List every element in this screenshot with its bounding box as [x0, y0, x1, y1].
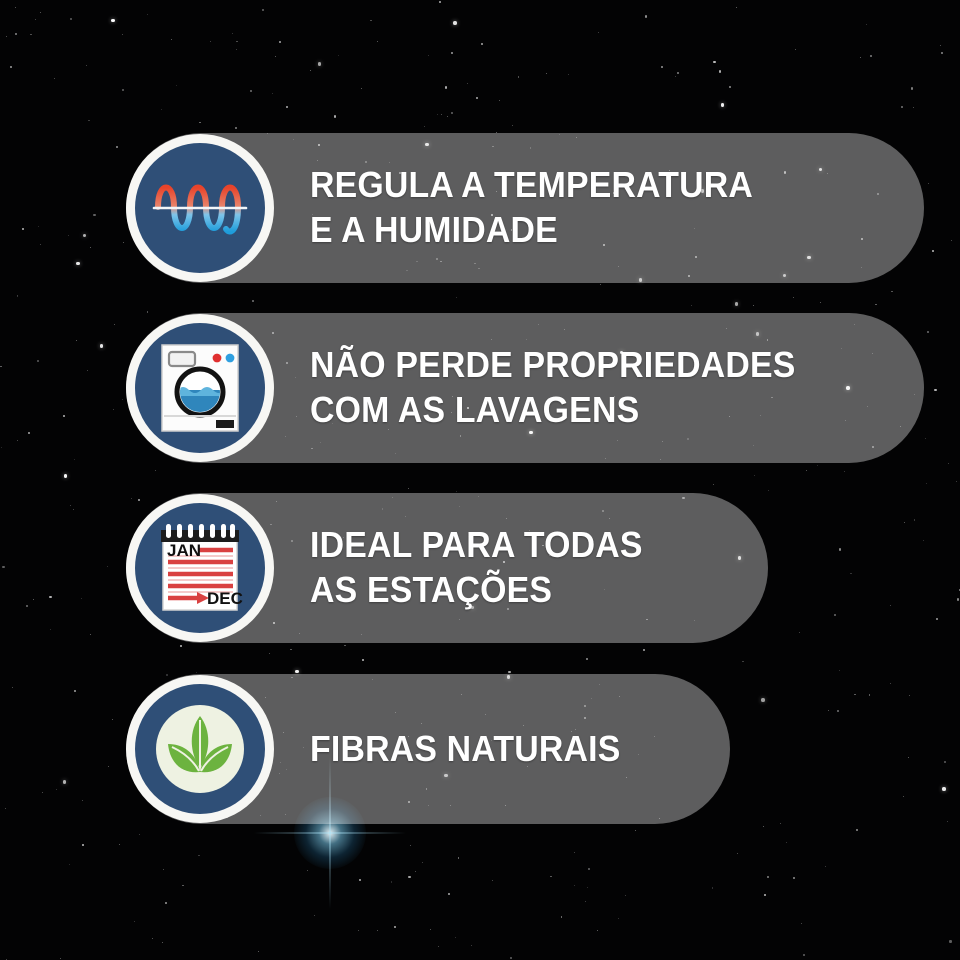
feature-icon-badge: JAN DEC — [126, 494, 274, 642]
promo-feature-card: REGULA A TEMPERATURA E A HUMIDADE NÃO PE… — [0, 0, 960, 960]
feature-row[interactable]: FIBRAS NATURAIS — [126, 674, 730, 824]
sine-wave-icon — [152, 173, 248, 243]
feature-label: FIBRAS NATURAIS — [310, 727, 621, 772]
feature-icon-badge — [126, 675, 274, 823]
feature-icon-badge — [126, 134, 274, 282]
washing-machine-icon — [159, 342, 241, 434]
calendar-icon: JAN DEC — [157, 522, 243, 614]
feature-row[interactable]: REGULA A TEMPERATURA E A HUMIDADE — [126, 133, 924, 283]
svg-text:DEC: DEC — [207, 589, 243, 608]
feature-label: IDEAL PARA TODAS AS ESTAÇÕES — [310, 523, 643, 612]
feature-row[interactable]: NÃO PERDE PROPRIEDADES COM AS LAVAGENS — [126, 313, 924, 463]
svg-text:JAN: JAN — [167, 541, 201, 560]
feature-label: NÃO PERDE PROPRIEDADES COM AS LAVAGENS — [310, 343, 796, 432]
leaves-icon — [145, 694, 255, 804]
feature-label: REGULA A TEMPERATURA E A HUMIDADE — [310, 163, 753, 252]
feature-row[interactable]: JAN DEC IDEAL PARA TODAS AS ESTAÇÕES — [126, 493, 768, 643]
feature-list: REGULA A TEMPERATURA E A HUMIDADE NÃO PE… — [0, 0, 960, 960]
feature-icon-badge — [126, 314, 274, 462]
